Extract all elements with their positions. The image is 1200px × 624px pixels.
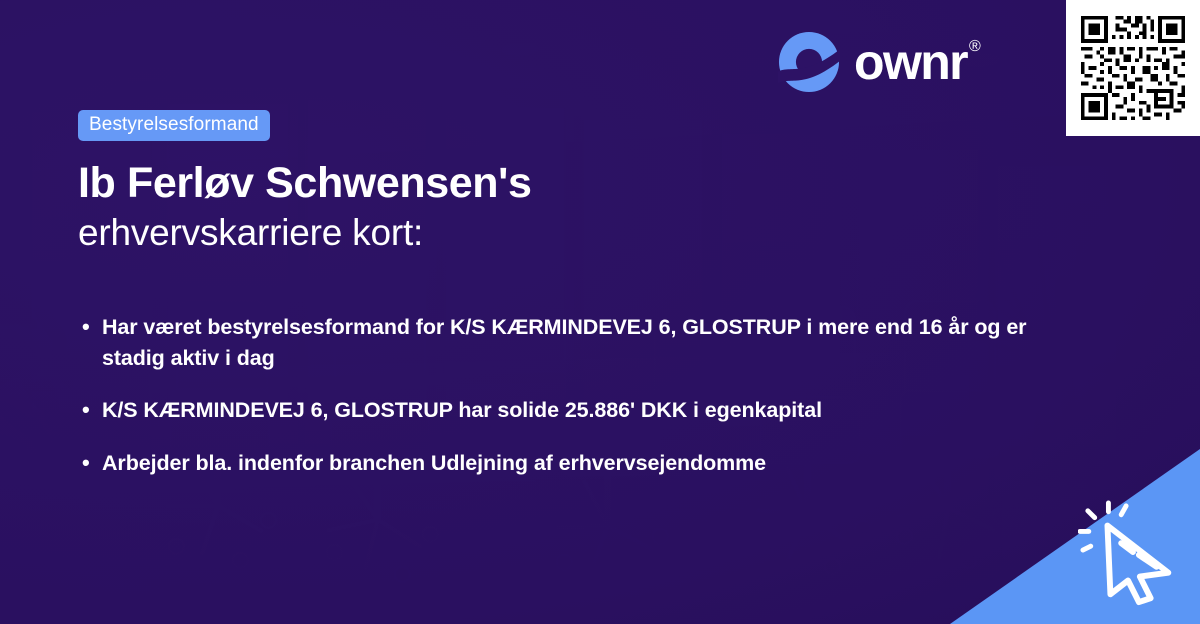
page-subtitle: erhvervskarriere kort:	[78, 211, 1040, 255]
career-highlights-list: Har været bestyrelsesformand for K/S KÆR…	[78, 312, 1050, 500]
header-block: Bestyrelsesformand Ib Ferløv Schwensen's…	[78, 110, 1040, 255]
career-card: ownr® Bestyrelsesformand Ib Ferløv Schwe…	[0, 0, 1200, 624]
page-title: Ib Ferløv Schwensen's	[78, 159, 1040, 209]
click-cursor-icon	[1078, 500, 1186, 608]
list-item: K/S KÆRMINDEVEJ 6, GLOSTRUP har solide 2…	[78, 395, 1050, 426]
list-item: Har været bestyrelsesformand for K/S KÆR…	[78, 312, 1050, 373]
ownr-circle-swoosh-icon	[778, 31, 840, 93]
qr-code-panel[interactable]	[1066, 0, 1200, 136]
qr-code-icon[interactable]	[1077, 12, 1189, 124]
registered-trademark-icon: ®	[969, 38, 979, 55]
status-badge: Bestyrelsesformand	[78, 110, 270, 141]
ownr-wordmark: ownr®	[854, 37, 979, 87]
list-item: Arbejder bla. indenfor branchen Udlejnin…	[78, 448, 1050, 479]
ownr-logo[interactable]: ownr®	[778, 31, 979, 93]
ownr-name: ownr	[854, 34, 967, 90]
